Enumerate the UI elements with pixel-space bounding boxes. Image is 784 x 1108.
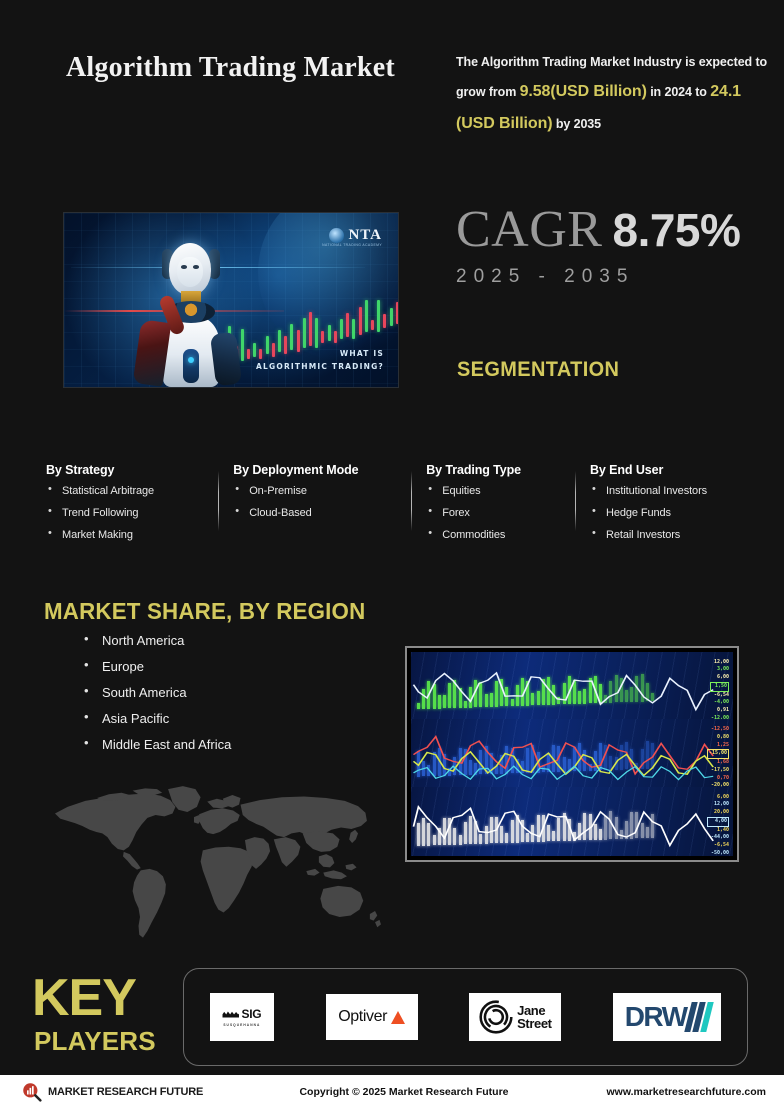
segmentation-column-4: By End UserInstitutional InvestorsHedge … — [590, 463, 746, 552]
drw-bars-icon — [688, 1002, 710, 1032]
segmentation-divider — [218, 471, 219, 531]
price-value: -17,50 — [707, 767, 729, 775]
market-share-region-item: North America — [82, 634, 231, 647]
market-share-region-item: Europe — [82, 660, 231, 673]
nta-brand-text: NTA — [348, 227, 382, 244]
price-value: -44,00 — [707, 834, 729, 842]
hero-caption: WHAT IS ALGORITHMIC TRADING? — [256, 347, 384, 373]
page-title: Algorithm Trading Market — [66, 48, 426, 88]
robot-chest-panel — [183, 349, 199, 383]
segmentation-columns: By StrategyStatistical ArbitrageTrend Fo… — [46, 463, 746, 552]
cagr-value: 8.75% — [612, 204, 740, 256]
sig-logo-top: SIG — [222, 1007, 261, 1021]
logo-card-drw[interactable]: DRW — [613, 993, 721, 1041]
price-value: 12,00 — [707, 801, 729, 809]
intro-mid: in 2024 to — [650, 85, 707, 99]
hero-candle — [321, 331, 324, 343]
footer-website[interactable]: www.marketresearchfuture.com — [516, 1086, 766, 1098]
robot-eye-right — [193, 265, 199, 269]
hero-candle — [396, 302, 399, 324]
jane-street-line1: Jane — [517, 1004, 551, 1017]
hero-candle — [309, 312, 312, 346]
hero-candle — [303, 318, 306, 348]
price-value: -6,54 — [707, 842, 729, 850]
hero-candle — [359, 307, 362, 335]
hero-candle — [315, 318, 318, 348]
price-value: 4,00 — [707, 817, 729, 827]
jane-street-circles-icon — [479, 1000, 513, 1034]
nta-mark-icon — [329, 228, 344, 243]
jane-street-logo: Jane Street — [479, 1000, 551, 1034]
segmentation-divider — [575, 471, 576, 531]
price-value: 0,80 — [707, 734, 729, 742]
sig-logo: SIG SUSQUEHANNA — [222, 1007, 261, 1027]
footer-bar: MARKET RESEARCH FUTURE Copyright © 2025 … — [0, 1075, 784, 1108]
price-value: -15,00 — [707, 749, 729, 759]
hero-candle — [383, 314, 386, 328]
price-line-chart — [411, 787, 733, 856]
hero-candle — [334, 331, 337, 343]
cagr-line: CAGR8.75% — [456, 204, 766, 256]
market-share-heading: MARKET SHARE, BY REGION — [44, 598, 365, 625]
key-players-players-text: PLAYERS — [34, 1028, 156, 1054]
segmentation-column-1: By StrategyStatistical ArbitrageTrend Fo… — [46, 463, 233, 552]
segmentation-column-title: By Strategy — [46, 463, 233, 477]
hero-candle — [352, 319, 355, 339]
price-readout-column: 12,003,006,001,50-6,54-4,000,91-12,00-1,… — [710, 659, 729, 720]
hero-candle — [377, 300, 380, 332]
sig-mark-icon — [222, 1011, 239, 1018]
intro-paragraph: The Algorithm Trading Market Industry is… — [456, 50, 768, 141]
trading-screen-image: 12,003,006,001,50-6,54-4,000,91-12,00-1,… — [405, 646, 739, 862]
market-share-region-item: South America — [82, 686, 231, 699]
price-line-chart — [411, 719, 733, 786]
key-players-key-text: KEY — [32, 972, 136, 1024]
logo-card-sig[interactable]: SIG SUSQUEHANNA — [210, 993, 274, 1041]
robot-figure — [131, 237, 251, 387]
segmentation-item: Market Making — [46, 530, 233, 541]
robot-face — [177, 257, 203, 287]
sig-subtitle: SUSQUEHANNA — [223, 1023, 260, 1027]
price-value: 3,00 — [710, 666, 729, 674]
segmentation-column-title: By Trading Type — [426, 463, 590, 477]
price-value: -4,00 — [710, 699, 729, 707]
nta-logo: NTA — [329, 227, 382, 244]
segmentation-column-3: By Trading TypeEquitiesForexCommodities — [426, 463, 590, 552]
segmentation-item: Cloud-Based — [233, 508, 426, 519]
price-value: 0,91 — [710, 707, 729, 715]
hero-candle — [340, 319, 343, 339]
price-value: -12,50 — [707, 726, 729, 734]
hero-caption-line2: ALGORITHMIC TRADING? — [256, 360, 384, 373]
price-value: 1,50 — [710, 682, 729, 692]
hero-image-algorithmic-trading: NTA NATIONAL TRADING ACADEMY WHAT IS ALG… — [63, 212, 399, 388]
optiver-logo: Optiver — [338, 1008, 405, 1026]
price-value: 1,25 — [707, 742, 729, 750]
trading-screen-band-3: 6,0012,0020,004,001,40-44,00-6,54-50,000… — [411, 787, 733, 856]
segmentation-item: Trend Following — [46, 508, 233, 519]
segmentation-item: Hedge Funds — [590, 508, 746, 519]
optiver-name: Optiver — [338, 1008, 387, 1026]
price-value: 0,70 — [707, 775, 729, 783]
price-value: 20,00 — [707, 809, 729, 817]
segmentation-item: Equities — [426, 486, 590, 497]
logo-card-optiver[interactable]: Optiver — [326, 994, 418, 1040]
hero-candle — [328, 325, 331, 341]
price-line-chart — [411, 652, 733, 719]
mrfr-logo-icon — [22, 1082, 42, 1102]
segmentation-column-2: By Deployment ModeOn-PremiseCloud-Based — [233, 463, 426, 552]
segmentation-item: Forex — [426, 508, 590, 519]
nta-brand-subtext: NATIONAL TRADING ACADEMY — [322, 243, 382, 247]
footer-copyright: Copyright © 2025 Market Research Future — [292, 1086, 516, 1098]
hero-candle — [365, 300, 368, 332]
segmentation-divider — [411, 471, 412, 531]
segmentation-item: On-Premise — [233, 486, 426, 497]
market-share-region-list: North AmericaEuropeSouth AmericaAsia Pac… — [82, 634, 231, 764]
footer-brand-block: MARKET RESEARCH FUTURE — [22, 1082, 292, 1102]
cagr-label: CAGR — [456, 201, 602, 258]
market-share-region-item: Middle East and Africa — [82, 738, 231, 751]
intro-post: by 2035 — [556, 117, 601, 131]
cagr-period: 2025 - 2035 — [456, 266, 766, 288]
jane-street-line2: Street — [517, 1017, 551, 1030]
intro-value-2024: 9.58(USD Billion) — [520, 83, 647, 100]
trading-screen-band-2: -12,500,801,25-15,001,68-17,500,70-20,00… — [411, 719, 733, 786]
price-readout-column: 6,0012,0020,004,001,40-44,00-6,54-50,000… — [707, 794, 729, 856]
segmentation-item: Commodities — [426, 530, 590, 541]
trading-screen-band-1: 12,003,006,001,50-6,54-4,000,91-12,00-1,… — [411, 652, 733, 719]
key-players-logo-box: SIG SUSQUEHANNA Optiver Jane Street DRW — [183, 968, 748, 1066]
hero-caption-line1: WHAT IS — [256, 347, 384, 360]
segmentation-item: Retail Investors — [590, 530, 746, 541]
hero-candle — [371, 320, 374, 330]
segmentation-column-title: By End User — [590, 463, 746, 477]
price-value: -50,00 — [707, 850, 729, 856]
hero-candle — [390, 308, 393, 326]
cagr-block: CAGR8.75% 2025 - 2035 — [456, 204, 766, 288]
price-value: 6,00 — [710, 674, 729, 682]
logo-card-jane-street[interactable]: Jane Street — [469, 993, 561, 1041]
price-value: 12,00 — [710, 659, 729, 667]
segmentation-heading: SEGMENTATION — [457, 358, 619, 382]
drw-logo: DRW — [625, 1001, 710, 1033]
robot-eye-left — [181, 265, 187, 269]
robot-arm-right — [210, 332, 242, 387]
segmentation-item: Institutional Investors — [590, 486, 746, 497]
trading-screen-content: 12,003,006,001,50-6,54-4,000,91-12,00-1,… — [411, 652, 733, 856]
price-value: 1,40 — [707, 827, 729, 835]
drw-name: DRW — [625, 1001, 687, 1033]
hero-candle — [346, 313, 349, 337]
jane-street-name: Jane Street — [517, 1004, 551, 1031]
optiver-triangle-icon — [391, 1011, 405, 1024]
world-map-graphic — [22, 778, 394, 948]
price-value: 1,68 — [707, 759, 729, 767]
segmentation-column-title: By Deployment Mode — [233, 463, 426, 477]
price-value: 6,00 — [707, 794, 729, 802]
footer-brand-text: MARKET RESEARCH FUTURE — [48, 1086, 203, 1098]
market-share-region-item: Asia Pacific — [82, 712, 231, 725]
sig-name: SIG — [241, 1007, 261, 1021]
segmentation-item: Statistical Arbitrage — [46, 486, 233, 497]
price-value: -6,54 — [710, 692, 729, 700]
price-readout-column: -12,500,801,25-15,001,68-17,500,70-20,00… — [707, 726, 729, 787]
